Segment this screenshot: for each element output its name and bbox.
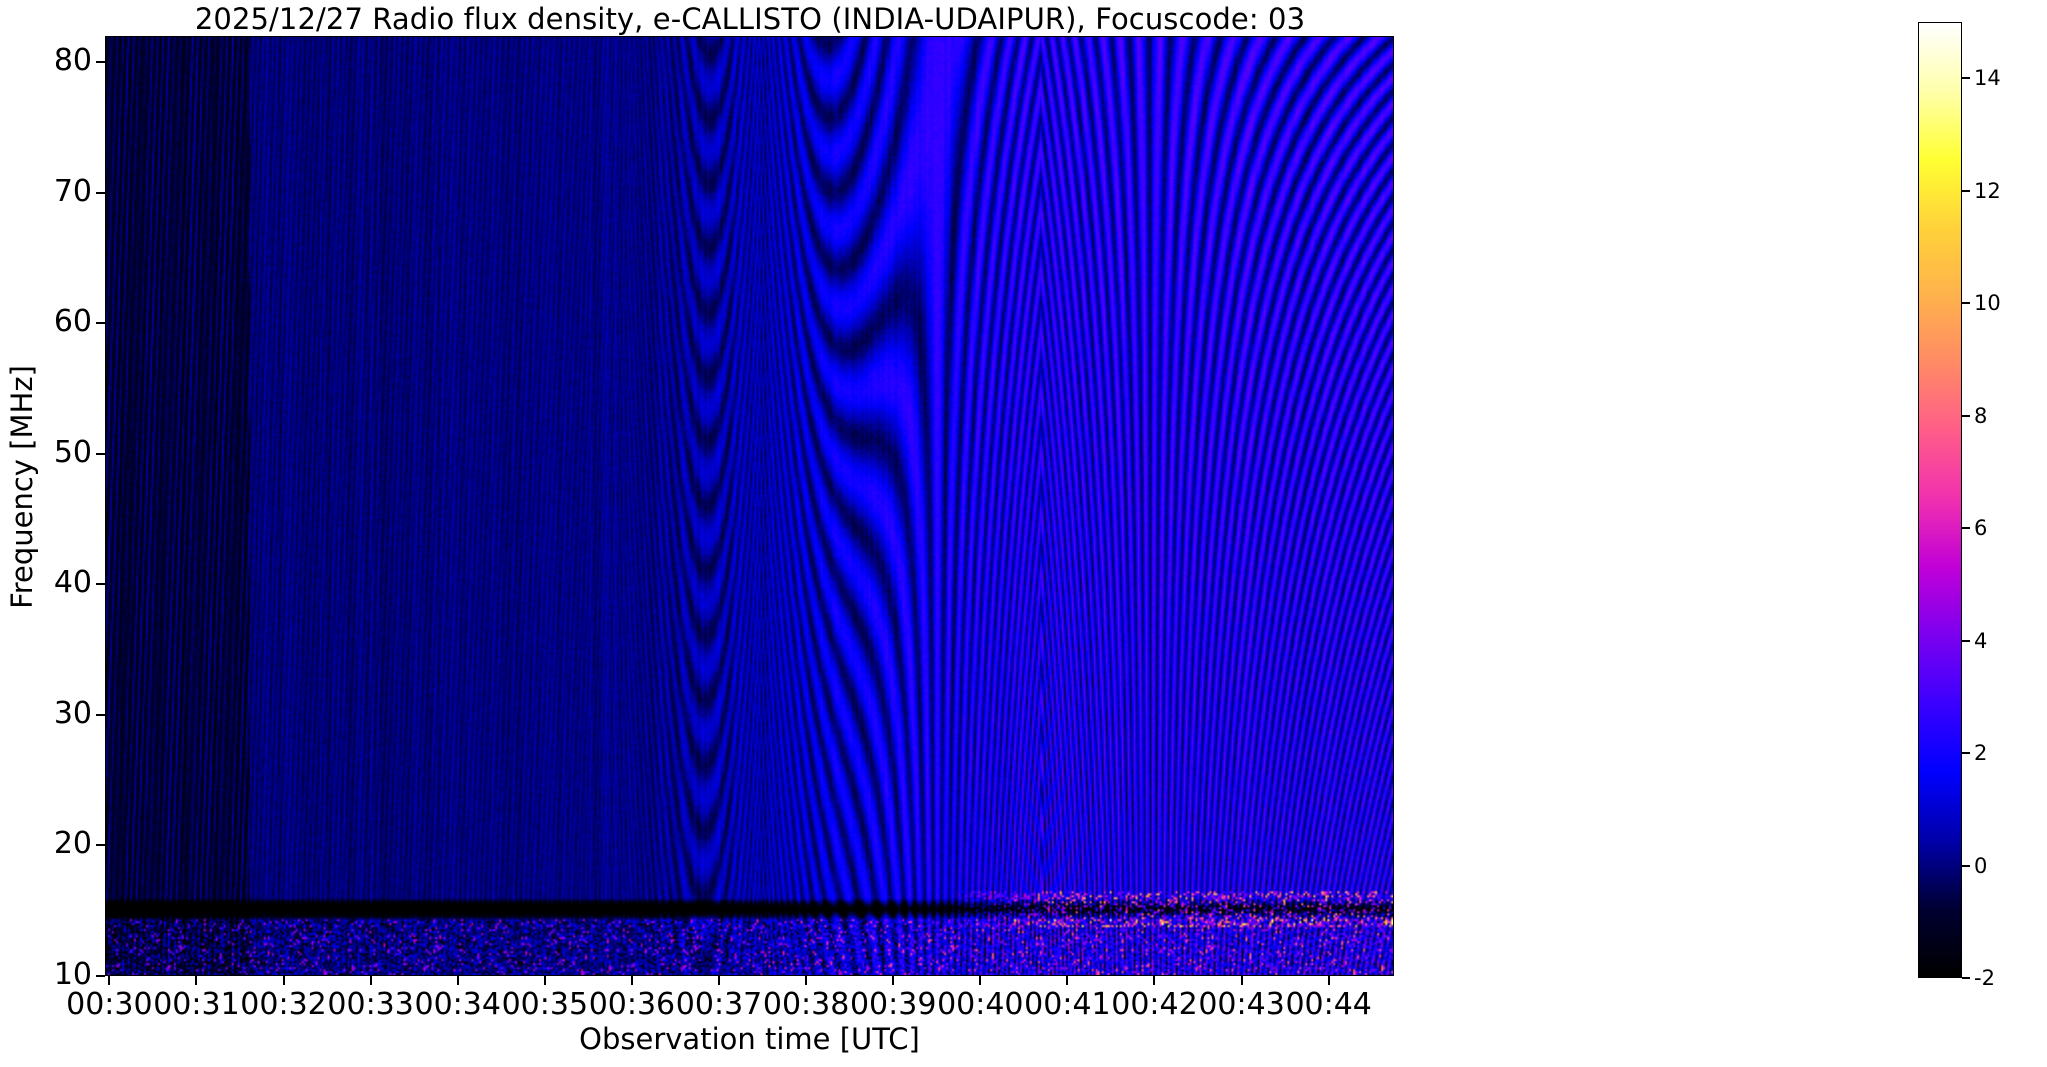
- y-tick-mark: [96, 583, 105, 585]
- colorbar-tick-label: 10: [1974, 290, 2001, 316]
- x-tick-mark: [283, 976, 285, 985]
- colorbar-gradient: [1919, 23, 1961, 977]
- colorbar-tick-label: 0: [1974, 853, 1987, 879]
- colorbar-tick-label: 8: [1974, 403, 1987, 429]
- x-tick-mark: [718, 976, 720, 985]
- y-tick-mark: [96, 844, 105, 846]
- x-tick-mark: [108, 976, 110, 985]
- x-tick-mark: [1066, 976, 1068, 985]
- spectrogram-figure: 2025/12/27 Radio flux density, e-CALLIST…: [0, 0, 2047, 1067]
- y-tick-label: 50: [54, 435, 92, 471]
- colorbar-tick-mark: [1962, 415, 1970, 417]
- x-tick-mark: [195, 976, 197, 985]
- colorbar[interactable]: [1918, 22, 1962, 978]
- colorbar-tick-label: 12: [1974, 178, 2001, 204]
- x-tick-mark: [805, 976, 807, 985]
- spectrogram-plot-area[interactable]: [105, 36, 1394, 976]
- y-tick-mark: [96, 192, 105, 194]
- spectrogram-image: [106, 37, 1393, 975]
- colorbar-tick-mark: [1962, 640, 1970, 642]
- colorbar-tick-mark: [1962, 77, 1970, 79]
- y-tick-label: 60: [54, 304, 92, 340]
- x-tick-mark: [370, 976, 372, 985]
- x-tick-mark: [1153, 976, 1155, 985]
- x-tick-mark: [631, 976, 633, 985]
- colorbar-tick-mark: [1962, 977, 1970, 979]
- x-tick-mark: [544, 976, 546, 985]
- colorbar-tick-label: 6: [1974, 515, 1987, 541]
- colorbar-axis: -202468101214: [1962, 22, 2022, 978]
- colorbar-tick-mark: [1962, 190, 1970, 192]
- x-tick-mark: [1328, 976, 1330, 985]
- y-tick-mark: [96, 975, 105, 977]
- y-axis-label: Frequency [MHz]: [5, 277, 39, 697]
- x-tick-mark: [457, 976, 459, 985]
- y-tick-label: 20: [54, 826, 92, 862]
- y-tick-label: 70: [54, 174, 92, 210]
- page-title: 2025/12/27 Radio flux density, e-CALLIST…: [105, 2, 1395, 36]
- colorbar-tick-label: -2: [1974, 965, 1995, 991]
- x-tick-mark: [1241, 976, 1243, 985]
- y-tick-mark: [96, 61, 105, 63]
- x-tick-label: 00:44: [1267, 987, 1391, 1022]
- y-tick-label: 40: [54, 565, 92, 601]
- y-tick-mark: [96, 714, 105, 716]
- colorbar-tick-label: 2: [1974, 740, 1987, 766]
- colorbar-tick-mark: [1962, 865, 1970, 867]
- x-tick-mark: [892, 976, 894, 985]
- y-tick-label: 80: [54, 43, 92, 79]
- colorbar-tick-label: 4: [1974, 628, 1987, 654]
- colorbar-tick-mark: [1962, 302, 1970, 304]
- colorbar-tick-label: 14: [1974, 65, 2001, 91]
- y-tick-mark: [96, 322, 105, 324]
- x-axis-label: Observation time [UTC]: [105, 1022, 1394, 1056]
- y-tick-label: 30: [54, 696, 92, 732]
- y-tick-mark: [96, 453, 105, 455]
- colorbar-tick-mark: [1962, 752, 1970, 754]
- x-tick-mark: [979, 976, 981, 985]
- colorbar-tick-mark: [1962, 527, 1970, 529]
